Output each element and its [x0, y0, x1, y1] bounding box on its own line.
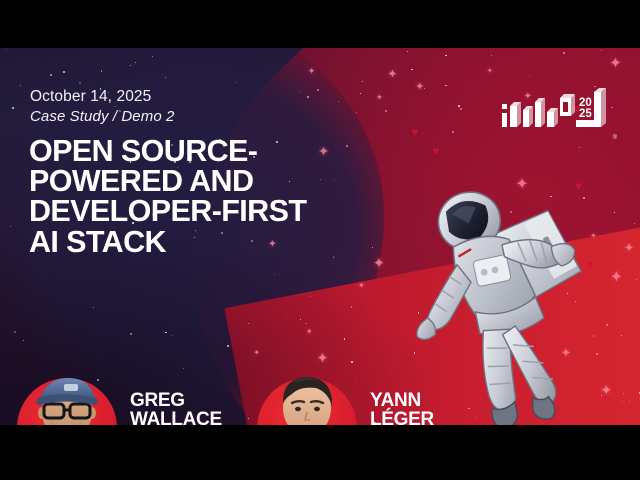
logo-year-bottom: 25 — [579, 108, 592, 120]
speaker-name-line-1: GREG — [130, 391, 233, 410]
speaker-name-line-1: YANN — [370, 391, 455, 410]
speaker-name: GREG WALLACE — [130, 391, 233, 429]
session-title-line-4: AI STACK — [29, 227, 399, 257]
speaker-name: YANN LÉGER — [370, 391, 455, 429]
session-title-line-3: DEVELOPER-FIRST — [29, 196, 399, 226]
session-title-line-2: POWERED AND — [29, 166, 399, 196]
registered-mark-icon: ® — [613, 135, 617, 141]
letterbox-bar-bottom — [0, 425, 640, 480]
session-title-line-1: OPEN SOURCE- — [29, 136, 399, 166]
session-title: OPEN SOURCE- POWERED AND DEVELOPER-FIRST… — [29, 136, 399, 257]
letterbox-bar-top — [0, 0, 640, 48]
session-track: Case Study / Demo 2 — [30, 108, 174, 126]
session-meta: October 14, 2025 Case Study / Demo 2 — [30, 88, 174, 126]
all-things-open-logo: 20 25 ® — [498, 82, 616, 138]
slide-screenshot: ✦✦✦✦✦✦✦✦✦✦✦✦✦✦✦✦✦✦✦✦✦✦✦✦✦✦♥♥♥♥♥ — [0, 0, 640, 480]
session-date: October 14, 2025 — [30, 88, 174, 107]
